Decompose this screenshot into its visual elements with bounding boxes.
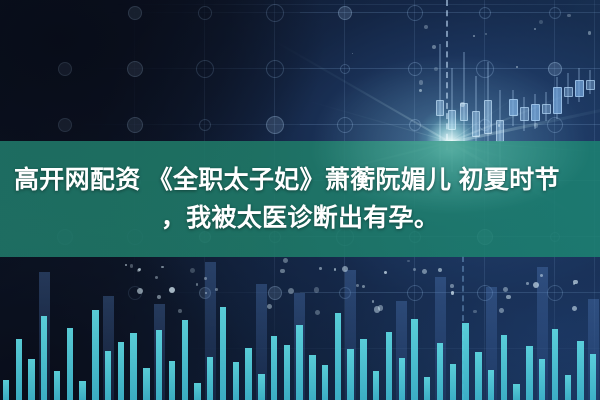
volume-bar-background xyxy=(294,293,305,400)
volume-bar xyxy=(475,352,481,400)
spark-dot xyxy=(424,25,428,29)
volume-bar xyxy=(552,329,558,400)
spark-dot xyxy=(473,35,475,37)
volume-bar xyxy=(296,325,302,400)
spark-dot xyxy=(334,268,337,271)
dashed-marker-line xyxy=(446,0,448,150)
spark-dot xyxy=(125,264,128,267)
grid-node-icon xyxy=(407,5,423,21)
volume-bar xyxy=(347,349,353,400)
spark-dot xyxy=(283,258,288,263)
candlestick xyxy=(509,90,518,127)
spark-dot xyxy=(378,305,383,310)
volume-bar xyxy=(143,368,149,400)
volume-bar xyxy=(501,335,507,400)
spark-dot xyxy=(267,304,272,309)
volume-bar-background xyxy=(205,262,216,400)
volume-bar xyxy=(539,359,545,400)
volume-bar xyxy=(462,323,468,400)
candlestick xyxy=(586,70,595,94)
volume-bar-background xyxy=(103,296,114,400)
spark-dot xyxy=(169,287,175,293)
volume-bar xyxy=(207,357,213,400)
volume-bar xyxy=(577,341,583,400)
grid-connector-line xyxy=(300,124,600,125)
grid-node-icon xyxy=(58,118,72,132)
spark-dot xyxy=(356,284,359,287)
headline-line-1: 高开网配资 《全职太子妃》萧蘅阮媚儿 初夏时节 xyxy=(14,161,586,199)
candle-body xyxy=(564,87,573,97)
grid-node-icon xyxy=(128,286,142,300)
spark-dot xyxy=(534,28,536,30)
spark-dot xyxy=(503,287,508,292)
spark-dot xyxy=(572,306,577,311)
candle-body xyxy=(520,107,529,122)
light-ray xyxy=(310,101,450,142)
light-ray xyxy=(450,87,585,143)
spark-dot xyxy=(434,67,438,71)
volume-bar xyxy=(437,343,443,400)
grid-connector-line xyxy=(300,12,600,13)
candle-wick xyxy=(524,97,525,131)
volume-bar xyxy=(335,313,341,400)
volume-bar xyxy=(513,384,519,400)
candle-body xyxy=(496,120,504,142)
grid-node-icon xyxy=(340,64,350,74)
spark-dot xyxy=(362,285,365,288)
candle-wick xyxy=(546,92,547,121)
volume-bar xyxy=(233,362,239,400)
volume-bar xyxy=(16,339,22,400)
candle-wick xyxy=(579,68,580,102)
candle-body xyxy=(542,104,551,114)
grid-node-icon xyxy=(479,119,491,131)
spark-dot xyxy=(432,45,436,49)
volume-bar xyxy=(399,358,405,400)
light-ray xyxy=(450,99,600,144)
volume-bar xyxy=(220,307,226,400)
spark-dot xyxy=(422,269,427,274)
volume-bar-background xyxy=(345,270,356,400)
grid-node-icon xyxy=(268,286,282,300)
spark-dot xyxy=(374,306,380,312)
spark-dot xyxy=(516,66,518,68)
volume-bar xyxy=(105,351,111,400)
grid-node-icon xyxy=(409,119,421,131)
grid-node-icon xyxy=(58,62,72,76)
spark-dot xyxy=(384,271,387,274)
candle-wick xyxy=(568,73,569,105)
spark-dot xyxy=(540,274,543,277)
candle-body xyxy=(586,80,595,90)
candle-body xyxy=(436,100,444,116)
spark-dot xyxy=(498,124,501,127)
volume-bar xyxy=(67,328,73,400)
spark-dot xyxy=(155,276,158,279)
spark-dot xyxy=(451,291,455,295)
promo-banner: 高开网配资 《全职太子妃》萧蘅阮媚儿 初夏时节 ，我被太医诊断出有孕。 xyxy=(0,0,600,400)
volume-bar xyxy=(424,377,430,400)
grid-node-icon xyxy=(547,117,563,133)
spark-dot xyxy=(288,288,294,294)
spark-dot xyxy=(130,264,133,267)
spark-dot xyxy=(137,269,139,271)
volume-bar-background xyxy=(588,299,599,400)
spark-dot xyxy=(534,123,538,127)
spark-dot xyxy=(137,288,143,294)
volume-bar-background xyxy=(256,284,267,400)
grid-node-icon xyxy=(476,60,494,78)
spark-dot xyxy=(161,266,164,269)
volume-bar-background xyxy=(396,301,407,400)
grid-node-icon xyxy=(128,6,142,20)
volume-bar xyxy=(386,332,392,400)
candle-wick xyxy=(535,94,536,128)
volume-bar xyxy=(258,374,264,400)
candle-body xyxy=(484,100,492,134)
candle-body xyxy=(460,103,468,121)
spark-dot xyxy=(460,102,465,107)
spark-dot xyxy=(215,288,218,291)
spark-dot xyxy=(413,268,416,271)
grid-node-icon xyxy=(338,6,352,20)
light-ray xyxy=(276,41,450,143)
volume-bar xyxy=(194,383,200,400)
candle-body xyxy=(575,80,584,97)
spark-dot xyxy=(205,292,207,294)
grid-node-icon xyxy=(266,60,284,78)
spark-dot xyxy=(588,31,592,35)
volume-bar xyxy=(54,371,60,400)
grid-node-icon xyxy=(479,7,491,19)
volume-bar xyxy=(590,354,596,400)
volume-bar-background xyxy=(537,267,548,400)
grid-node-icon xyxy=(407,285,423,301)
candle-wick xyxy=(590,70,591,94)
grid-node-icon xyxy=(337,117,353,133)
grid-node-icon xyxy=(408,62,422,76)
grid-node-icon xyxy=(196,60,214,78)
volume-bar xyxy=(450,364,456,400)
candle-body xyxy=(448,110,456,130)
grid-node-icon xyxy=(477,285,493,301)
volume-bar xyxy=(182,320,188,400)
volume-bar xyxy=(92,310,98,400)
volume-bar xyxy=(322,365,328,400)
volume-bar-background xyxy=(39,272,50,400)
spark-dot xyxy=(314,287,319,292)
candle-wick xyxy=(557,77,558,118)
volume-bar xyxy=(284,345,290,400)
spark-dot xyxy=(438,268,442,272)
volume-bar xyxy=(526,346,532,400)
spark-dot xyxy=(450,284,454,288)
volume-bar-background xyxy=(435,277,446,400)
volume-bar xyxy=(118,342,124,400)
spark-dot xyxy=(407,260,410,263)
headline-text: 高开网配资 《全职太子妃》萧蘅阮媚儿 初夏时节 ，我被太医诊断出有孕。 xyxy=(0,141,600,257)
spark-dot xyxy=(539,20,543,24)
spark-dot xyxy=(419,80,424,85)
grid-node-icon xyxy=(266,116,284,134)
volume-bar xyxy=(130,333,136,400)
volume-bar xyxy=(169,361,175,400)
volume-bar xyxy=(79,381,85,400)
grid-node-icon xyxy=(549,7,561,19)
candlestick xyxy=(531,94,540,128)
volume-bar xyxy=(245,348,251,400)
grid-node-icon xyxy=(339,287,351,299)
grid-node-icon xyxy=(548,62,562,76)
spark-dot xyxy=(138,268,141,271)
volume-bar-background xyxy=(154,304,165,400)
spark-dot xyxy=(319,267,322,270)
candle-wick xyxy=(513,90,514,127)
spark-dot xyxy=(157,295,161,299)
grid-connector-line xyxy=(300,292,600,293)
grid-node-icon xyxy=(266,4,284,22)
spark-dot xyxy=(204,277,207,280)
volume-bar xyxy=(373,371,379,400)
volume-bar xyxy=(28,359,34,400)
spark-dot xyxy=(473,310,477,314)
spark-dot xyxy=(526,282,529,285)
grid-node-icon xyxy=(198,6,212,20)
volume-bar xyxy=(41,316,47,400)
volume-bar xyxy=(411,319,417,400)
spark-dot xyxy=(567,14,570,17)
volume-bar xyxy=(3,380,9,400)
spark-dot xyxy=(315,310,321,316)
grid-connector-line xyxy=(300,68,600,69)
grid-node-icon xyxy=(199,119,211,131)
grid-node-icon xyxy=(127,117,143,133)
spark-dot xyxy=(178,309,182,313)
candlestick xyxy=(553,77,562,118)
spark-dot xyxy=(499,308,504,313)
volume-bar-background xyxy=(486,287,497,400)
spark-dot xyxy=(573,280,577,284)
spark-dot xyxy=(573,283,575,285)
spark-dot xyxy=(372,300,375,303)
spark-dot xyxy=(352,53,354,55)
candle-body xyxy=(531,104,540,121)
light-ray xyxy=(450,91,525,142)
volume-bar xyxy=(488,370,494,400)
spark-dot xyxy=(342,266,348,272)
grid-node-icon xyxy=(127,61,143,77)
volume-bar xyxy=(156,330,162,400)
spark-dot xyxy=(280,269,284,273)
candle-body xyxy=(509,99,518,116)
volume-bar xyxy=(360,339,366,400)
volume-bar xyxy=(309,355,315,400)
dashed-marker-line xyxy=(462,256,464,400)
volume-bar xyxy=(565,375,571,400)
candle-body xyxy=(553,87,562,114)
grid-node-icon xyxy=(547,285,563,301)
spark-dot xyxy=(190,268,195,273)
spark-dot xyxy=(485,33,488,36)
volume-bar xyxy=(271,336,277,400)
spark-dot xyxy=(533,282,539,288)
candlestick xyxy=(542,92,551,121)
candlestick xyxy=(575,68,584,102)
headline-line-2: ，我被太医诊断出有孕。 xyxy=(14,199,586,237)
spark-dot xyxy=(419,89,422,92)
candlestick xyxy=(520,97,529,131)
spark-dot xyxy=(506,295,510,299)
grid-node-icon xyxy=(199,287,211,299)
candle-body xyxy=(472,111,480,137)
candlestick xyxy=(564,73,573,105)
spark-dot xyxy=(196,283,198,285)
